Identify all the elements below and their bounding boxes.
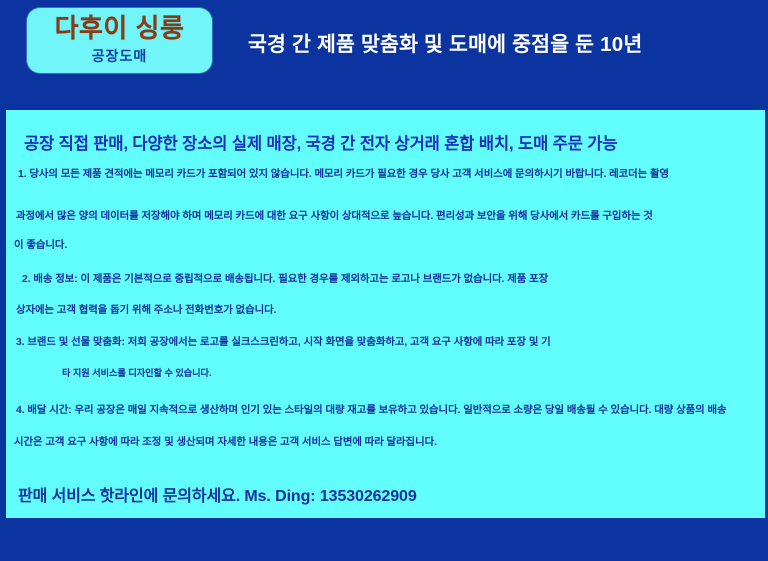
brand-logo[interactable]: 다후이 싱룽 공장도매 (27, 8, 212, 73)
policy-paragraph-line: 4. 배달 시간: 우리 공장은 매일 지속적으로 생산하며 인기 있는 스타일… (16, 406, 727, 416)
policy-paragraph-line: 3. 브랜드 및 선물 맞춤화: 저희 공장에서는 로고를 실크스크린하고, 시… (16, 338, 551, 348)
policy-paragraph-line: 1. 당사의 모든 제품 견적에는 메모리 카드가 포함되어 있지 않습니다. … (18, 170, 669, 180)
header-tagline: 국경 간 제품 맞춤화 및 도매에 중점을 둔 10년 (248, 27, 756, 57)
sales-hotline-text: 판매 서비스 핫라인에 문의하세요. Ms. Ding: 13530262909 (18, 482, 417, 506)
policy-paragraph-line: 상자에는 고객 협력을 돕기 위해 주소나 전화번호가 없습니다. (16, 306, 276, 316)
promotional-banner-page: 다후이 싱룽 공장도매 국경 간 제품 맞춤화 및 도매에 중점을 둔 10년 … (0, 0, 768, 561)
policy-paragraph-line: 타 지원 서비스를 디자인할 수 있습니다. (62, 369, 211, 378)
content-panel: 공장 직접 판매, 다양한 장소의 실제 매장, 국경 간 전자 상거래 혼합 … (6, 110, 765, 518)
policy-paragraph-line: 2. 배송 정보: 이 제품은 기본적으로 중립적으로 배송됩니다. 필요한 경… (22, 275, 548, 285)
brand-logo-title: 다후이 싱룽 (55, 15, 185, 42)
footer-band (0, 518, 768, 561)
policy-paragraph-line: 과정에서 많은 양의 데이터를 저장해야 하며 메모리 카드에 대한 요구 사항… (16, 212, 653, 222)
policy-paragraph-line: 이 좋습니다. (14, 241, 67, 251)
page-header: 다후이 싱룽 공장도매 국경 간 제품 맞춤화 및 도매에 중점을 둔 10년 (0, 0, 768, 110)
panel-heading: 공장 직접 판매, 다양한 장소의 실제 매장, 국경 간 전자 상거래 혼합 … (24, 130, 617, 154)
brand-logo-subtitle: 공장도매 (92, 46, 148, 66)
policy-paragraph-line: 시간은 고객 요구 사항에 따라 조정 및 생산되며 자세한 내용은 고객 서비… (14, 438, 437, 448)
